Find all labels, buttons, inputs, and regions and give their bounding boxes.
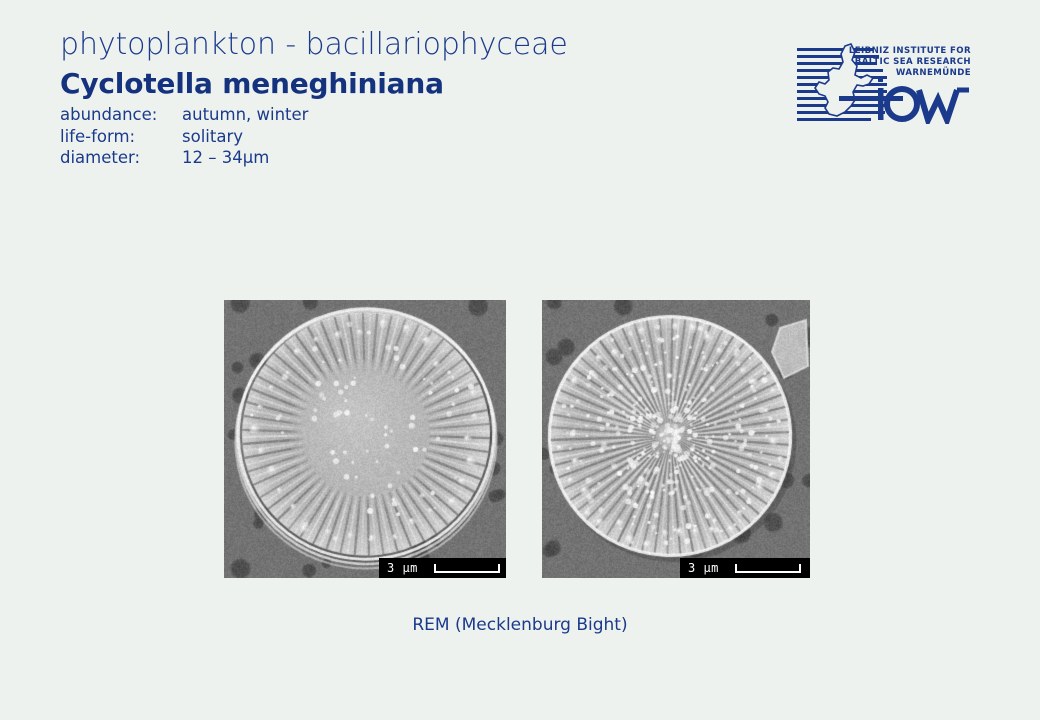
slide-canvas: phytoplankton - bacillariophyceae Cyclot…	[0, 0, 1040, 720]
logo-line-3: WARNEMÜNDE	[896, 67, 971, 78]
sem-image-right	[542, 300, 810, 578]
scalebar-rule	[434, 564, 500, 573]
table-row: life-form: solitary	[60, 126, 308, 148]
scalebar-label: 3 µm	[387, 562, 418, 574]
fact-value-life-form: solitary	[180, 126, 308, 148]
species-facts-table: abundance: autumn, winter life-form: sol…	[60, 104, 308, 169]
scalebar-left: 3 µm	[379, 558, 506, 578]
scalebar-rule	[735, 564, 801, 573]
table-row: abundance: autumn, winter	[60, 104, 308, 126]
logo-line-2: BALTIC SEA RESEARCH	[855, 57, 971, 67]
table-row: diameter: 12 – 34µm	[60, 147, 308, 169]
page-title-group: phytoplankton - bacillariophyceae	[60, 28, 680, 62]
sem-micrograph-right: 3 µm	[542, 300, 810, 578]
fact-key-diameter: diameter:	[60, 147, 180, 169]
fact-key-abundance: abundance:	[60, 104, 180, 126]
figure-caption: REM (Mecklenburg Bight)	[0, 615, 1040, 635]
scalebar-right: 3 µm	[680, 558, 810, 578]
fact-value-abundance: autumn, winter	[180, 104, 308, 126]
header-text-block: phytoplankton - bacillariophyceae Cyclot…	[60, 28, 680, 169]
scalebar-label: 3 µm	[688, 562, 719, 574]
logo-line-1: LEIBNIZ INSTITUTE FOR	[849, 46, 971, 56]
sem-image-left	[224, 300, 506, 578]
fact-value-diameter: 12 – 34µm	[180, 147, 308, 169]
page-title-species: Cyclotella meneghiniana	[60, 68, 680, 99]
sem-micrograph-left: 3 µm	[224, 300, 506, 578]
fact-key-life-form: life-form:	[60, 126, 180, 148]
logo-institute-text: LEIBNIZ INSTITUTE FOR BALTIC SEA RESEARC…	[849, 46, 971, 78]
iow-logo: LEIBNIZ INSTITUTE FOR BALTIC SEA RESEARC…	[795, 42, 973, 124]
